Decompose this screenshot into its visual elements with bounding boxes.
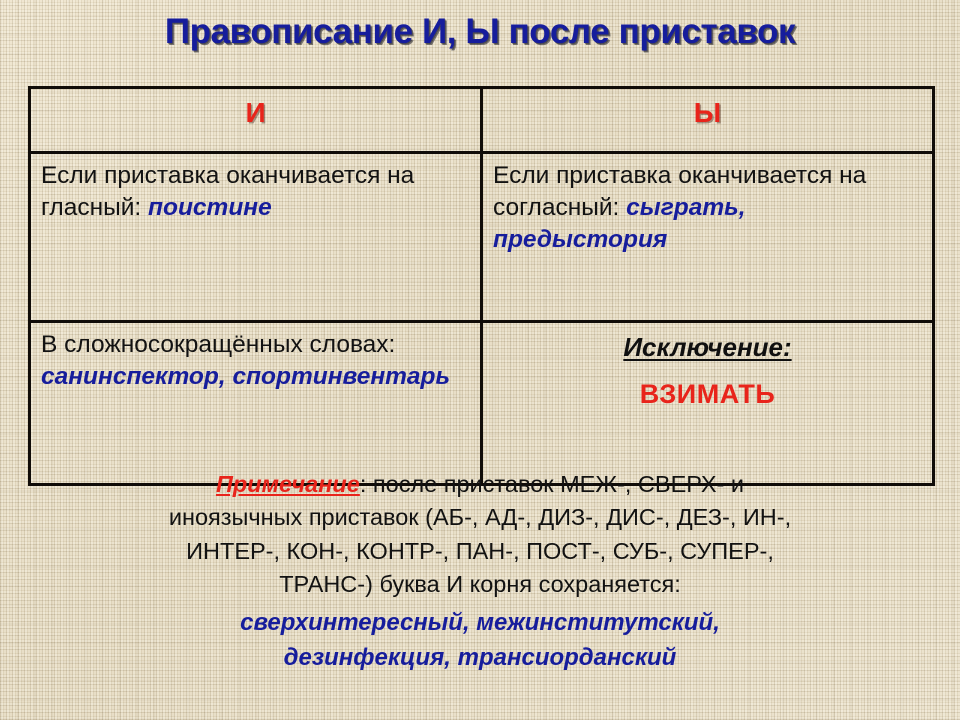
exception-word: ВЗИМАТЬ [493, 377, 922, 412]
note-line-1: Примечание: после приставок МЕЖ-, СВЕРХ-… [0, 468, 960, 501]
note-block: Примечание: после приставок МЕЖ-, СВЕРХ-… [0, 468, 960, 676]
header-letter-i: И [245, 97, 265, 128]
table-row: Если приставка оканчивается на гласный: … [30, 153, 934, 322]
rule-cell-exception: Исключение: ВЗИМАТЬ [482, 322, 934, 485]
rules-table: И Ы Если приставка оканчивается на гласн… [28, 86, 935, 486]
rule-text: В сложносокращённых словах: [41, 331, 395, 358]
note-line-1-rest: : после приставок МЕЖ-, СВЕРХ- и [360, 471, 744, 497]
rule-cell-vowel-prefix: Если приставка оканчивается на гласный: … [30, 153, 482, 322]
rule-cell-compound-words: В сложносокращённых словах: санинспектор… [30, 322, 482, 485]
note-line-4: ТРАНС-) буква И корня сохраняется: [0, 568, 960, 601]
note-examples-line-1: сверхинтересный, межинститутский, [240, 609, 720, 636]
table-row: В сложносокращённых словах: санинспектор… [30, 322, 934, 485]
rule-example: поистине [148, 194, 272, 221]
table-header-cell-y: Ы [482, 88, 934, 153]
exception-label: Исключение: [493, 331, 922, 365]
rule-example: санинспектор, спортинвентарь [41, 363, 450, 390]
note-line-3: ИНТЕР-, КОН-, КОНТР-, ПАН-, ПОСТ-, СУБ-,… [0, 535, 960, 568]
rule-cell-consonant-prefix: Если приставка оканчивается на согласный… [482, 153, 934, 322]
note-line-2: иноязычных приставок (АБ-, АД-, ДИЗ-, ДИ… [0, 501, 960, 534]
note-label: Примечание [216, 471, 360, 497]
table-header-cell-i: И [30, 88, 482, 153]
table-header-row: И Ы [30, 88, 934, 153]
slide-canvas: Правописание И, Ы после приставок И Ы Ес… [0, 0, 960, 720]
header-letter-y: Ы [694, 97, 721, 128]
page-title: Правописание И, Ы после приставок [0, 12, 960, 52]
note-examples-line-2: дезинфекция, трансиорданский [284, 644, 677, 671]
note-examples: сверхинтересный, межинститутский, дезинф… [0, 606, 960, 676]
